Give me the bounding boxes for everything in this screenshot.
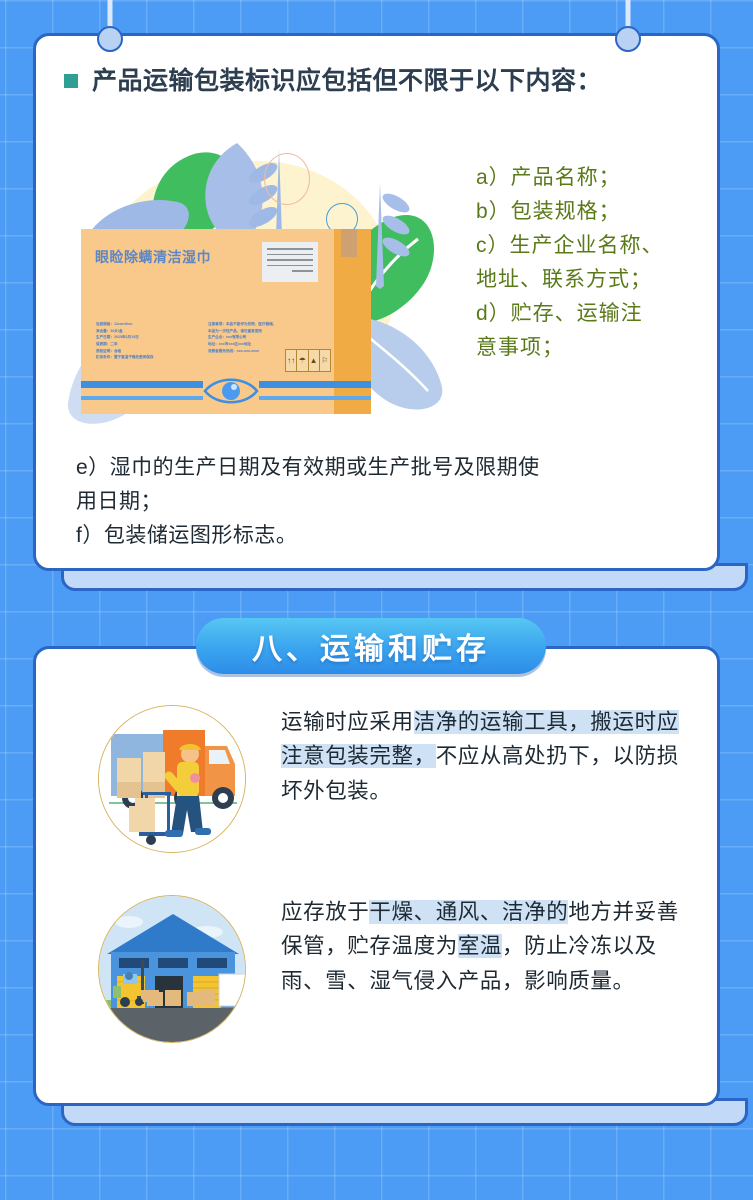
parcel-product-title: 眼睑除螨清洁湿巾 — [95, 247, 211, 267]
heading-text: 产品运输包装标识应包括但不限于以下内容： — [92, 61, 602, 97]
shipping-symbols-icon: ↑↑ ☂ ▲ ⚐ — [285, 349, 331, 372]
card-body: 运输时应采用洁净的运输工具，搬运时应注意包装完整，不应从高处扔下，以防损坏外包装… — [33, 646, 720, 1106]
list-item-3: 地址、联系方式； — [476, 263, 721, 297]
card-body: 产品运输包装标识应包括但不限于以下内容： — [33, 33, 720, 571]
paragraph-transport-text: 运输时应采用洁净的运输工具，搬运时应注意包装完整，不应从高处扔下，以防损坏外包装… — [281, 705, 681, 808]
spec-line-1: 本品为一次性产品，请勿重复使用 — [208, 328, 276, 335]
spec-line-3: 保质期：二年 — [96, 341, 154, 348]
paragraph-storage: 应存放于干燥、通风、洁净的地方并妥善保管，贮存温度为室温，防止冷冻以及雨、雪、湿… — [98, 895, 698, 1043]
list-item-2: c）生产企业名称、 — [476, 229, 721, 263]
content-card-packaging-label: 产品运输包装标识应包括但不限于以下内容： — [33, 33, 720, 598]
list-item-5: 意事项； — [476, 331, 721, 365]
eye-logo-icon — [203, 374, 259, 408]
parcel-spec-right: 注意事项：本品不能作为药物、医疗器械。本品为一次性产品，请勿重复使用生产企业：x… — [208, 321, 276, 354]
spec-line-4: 消费者服务热线：xxx-xxx-xxxx — [208, 348, 276, 355]
decor-circle-orange — [264, 153, 310, 205]
packaging-label-list-right: a）产品名称；b）包装规格；c）生产企业名称、地址、联系方式；d）贮存、运输注意… — [476, 161, 721, 365]
spec-line-2: 生产企业：xxx有限公司 — [208, 334, 276, 341]
content-card-transport-storage: 运输时应采用洁净的运输工具，搬运时应注意包装完整，不应从高处扔下，以防损坏外包装… — [33, 646, 720, 1134]
text-segment-0: 运输时应采用 — [281, 710, 414, 734]
spec-line-1: 净含量：30片/盒 — [96, 328, 154, 335]
symbol-keep-dry-icon: ☂ — [297, 350, 308, 371]
bullet-square-icon — [64, 74, 78, 88]
paragraph-storage-text: 应存放于干燥、通风、洁净的地方并妥善保管，贮存温度为室温，防止冷冻以及雨、雪、湿… — [281, 895, 681, 998]
parcel-tape — [341, 229, 357, 257]
paragraph-transport: 运输时应采用洁净的运输工具，搬运时应注意包装完整，不应从高处扔下，以防损坏外包装… — [98, 705, 698, 853]
symbol-handle-care-icon: ⚐ — [320, 350, 330, 371]
packaging-label-list-bottom: e）湿巾的生产日期及有效期或生产批号及限期使用日期；f）包装储运图形标志。 — [76, 451, 706, 553]
text-segment-1: 干燥、通风、洁净的 — [369, 900, 568, 924]
section-title-pill: 八、运输和贮存 — [196, 618, 546, 674]
parcel-address-label — [262, 242, 318, 282]
spec-line-0: 注意事项：本品不能作为药物、医疗器械。 — [208, 321, 276, 328]
parcel-box: 眼睑除螨清洁湿巾 包装规格：12cm×8cm净含量：30片/盒生产日期：2025… — [81, 229, 371, 414]
spec-line-5: 贮存条件：置于室温干燥处密闭保存 — [96, 354, 154, 361]
list-item-2: f）包装储运图形标志。 — [76, 519, 706, 553]
delivery-truck-illustration — [98, 705, 246, 853]
list-item-0: a）产品名称； — [476, 161, 721, 195]
spec-line-4: 质检证明：合格 — [96, 348, 154, 355]
warehouse-forklift-illustration — [98, 895, 246, 1043]
spec-line-2: 生产日期：2025年3月15日 — [96, 334, 154, 341]
list-item-1: b）包装规格； — [476, 195, 721, 229]
text-segment-3: 室温 — [458, 934, 502, 958]
text-segment-0: 应存放于 — [281, 900, 369, 924]
symbol-fragile-icon: ▲ — [309, 350, 320, 371]
list-item-4: d）贮存、运输注 — [476, 297, 721, 331]
parcel-illustration: 眼睑除螨清洁湿巾 包装规格：12cm×8cm净含量：30片/盒生产日期：2025… — [64, 141, 434, 441]
pin-ring — [97, 26, 123, 52]
card-heading: 产品运输包装标识应包括但不限于以下内容： — [36, 36, 717, 97]
symbol-this-way-up-icon: ↑↑ — [286, 350, 297, 371]
list-item-1: 用日期； — [76, 485, 706, 519]
spec-line-3: 地址：xxx市xxx区xxx地址 — [208, 341, 276, 348]
spec-line-0: 包装规格：12cm×8cm — [96, 321, 154, 328]
list-item-0: e）湿巾的生产日期及有效期或生产批号及限期使 — [76, 451, 706, 485]
parcel-spec-left: 包装规格：12cm×8cm净含量：30片/盒生产日期：2025年3月15日保质期… — [96, 321, 154, 361]
pin-ring — [615, 26, 641, 52]
section-title-text: 八、运输和贮存 — [252, 624, 490, 668]
